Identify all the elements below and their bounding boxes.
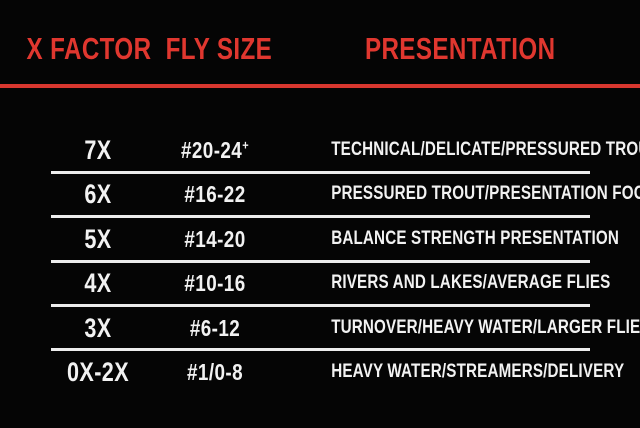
cell-presentation: TURNOVER/HEAVY WATER/LARGER FLIES (331, 306, 581, 350)
cell-x-factor: 7X (42, 128, 154, 172)
cell-x-factor: 0X-2X (42, 350, 154, 394)
table-row: 7X #20-24+ TECHNICAL/DELICATE/PRESSURED … (0, 128, 640, 172)
cell-fly-size: #6-12 (162, 306, 269, 350)
row-divider (51, 348, 590, 351)
cell-presentation: TECHNICAL/DELICATE/PRESSURED TROUT (331, 128, 581, 172)
column-header-fly-size: FLY SIZE (141, 32, 297, 66)
header-accent-rule (0, 84, 640, 88)
cell-x-factor: 6X (42, 172, 154, 216)
cell-presentation: PRESSURED TROUT/PRESENTATION FOCUSED (331, 172, 581, 216)
cell-x-factor: 5X (42, 217, 154, 261)
cell-fly-size: #20-24+ (162, 128, 269, 172)
row-divider (51, 304, 590, 307)
tippet-chart-poster: X FACTOR FLY SIZE PRESENTATION 7X #20-24… (0, 0, 640, 428)
cell-presentation: BALANCE STRENGTH PRESENTATION (331, 217, 581, 261)
tippet-table-body: 7X #20-24+ TECHNICAL/DELICATE/PRESSURED … (0, 128, 640, 394)
cell-fly-size-value: #10-16 (184, 270, 245, 296)
cell-presentation: HEAVY WATER/STREAMERS/DELIVERY (331, 350, 581, 394)
cell-fly-size-value: #14-20 (184, 226, 245, 252)
cell-fly-size-value: #6-12 (190, 315, 240, 341)
cell-fly-size: #10-16 (162, 261, 269, 305)
column-header-presentation: PRESENTATION (335, 32, 585, 66)
cell-fly-size-value: #1/0-8 (187, 359, 243, 385)
cell-fly-size: #1/0-8 (162, 350, 269, 394)
table-row: 0X-2X #1/0-8 HEAVY WATER/STREAMERS/DELIV… (0, 350, 640, 394)
cell-fly-size: #16-22 (162, 172, 269, 216)
cell-x-factor: 4X (42, 261, 154, 305)
cell-fly-size-value: #16-22 (184, 181, 245, 207)
cell-fly-size-value: #20-24 (181, 137, 242, 163)
row-divider (51, 260, 590, 263)
table-row: 6X #16-22 PRESSURED TROUT/PRESENTATION F… (0, 172, 640, 216)
row-divider (51, 171, 590, 174)
cell-presentation: RIVERS AND LAKES/AVERAGE FLIES (331, 261, 581, 305)
table-row: 4X #10-16 RIVERS AND LAKES/AVERAGE FLIES (0, 261, 640, 305)
cell-fly-size: #14-20 (162, 217, 269, 261)
table-row: 5X #14-20 BALANCE STRENGTH PRESENTATION (0, 217, 640, 261)
cell-x-factor: 3X (42, 306, 154, 350)
cell-fly-size-superscript: + (242, 137, 249, 152)
table-row: 3X #6-12 TURNOVER/HEAVY WATER/LARGER FLI… (0, 306, 640, 350)
row-divider (51, 215, 590, 218)
table-header: X FACTOR FLY SIZE PRESENTATION (0, 28, 640, 68)
